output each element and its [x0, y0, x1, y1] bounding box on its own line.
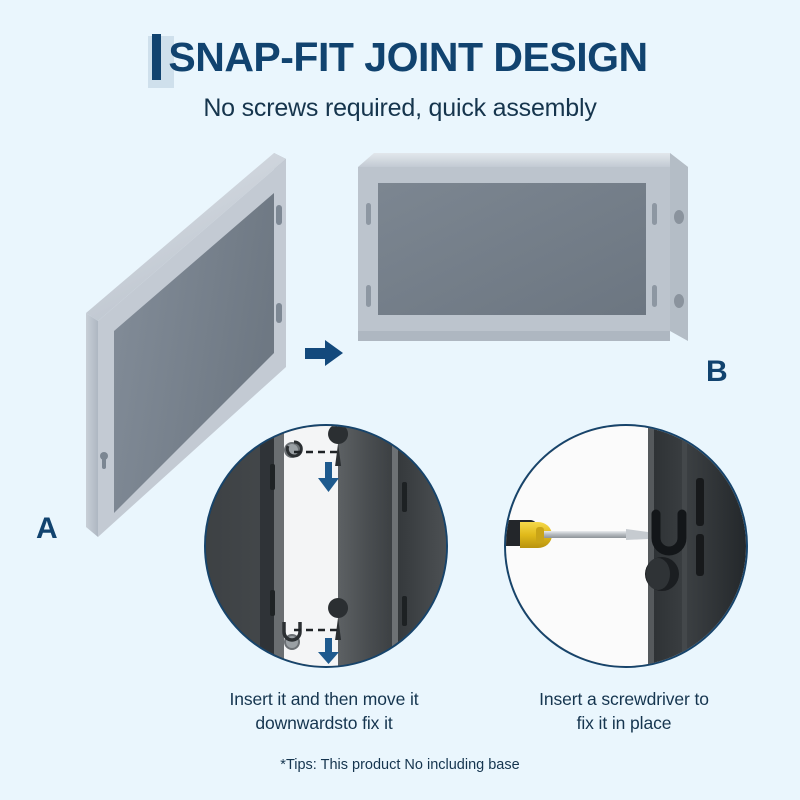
title-row: SNAP-FIT JOINT DESIGN: [152, 34, 647, 80]
panel-b-top-bevel: [358, 153, 688, 167]
assembly-arrow-top-icon: [305, 340, 343, 366]
diagram-label-a: A: [36, 512, 58, 546]
page-subtitle: No screws required, quick assembly: [0, 94, 800, 123]
panel-b-hole-bottom: [674, 294, 684, 308]
inset-left-vent-bottom: [270, 590, 275, 616]
panel-b-graphic: [352, 145, 712, 375]
inset-left-column-edge: [392, 426, 398, 666]
panel-b-right-face: [670, 153, 688, 341]
inset-left-far-vent-top: [402, 482, 407, 512]
panel-b-slot-right-bottom: [652, 285, 657, 307]
inset-right-caption: Insert a screwdriver to fix it in place: [494, 687, 754, 735]
panel-b-slot-left-top: [366, 203, 371, 225]
panel-b-slot-left-bottom: [366, 285, 371, 307]
title-accent-bar: [152, 34, 161, 80]
inset-left-caption-line1: Insert it and then move it: [194, 687, 454, 711]
exploded-assembly-diagram: A B: [0, 140, 800, 415]
panel-a-left-edge: [86, 313, 98, 537]
panel-a-slot-bottom: [276, 303, 282, 323]
panel-b-bottom-lip: [358, 331, 670, 341]
inset-left-column: [338, 426, 396, 666]
inset-left-vent-top: [270, 464, 275, 490]
inset-left-caption-line2: downwardsto fix it: [194, 711, 454, 735]
page-title: SNAP-FIT JOINT DESIGN: [168, 34, 647, 80]
inset-right-caption-line2: fix it in place: [494, 711, 754, 735]
inset-right-caption-line1: Insert a screwdriver to: [494, 687, 754, 711]
inset-insert-and-slide-down: [204, 424, 448, 668]
inset-left-caption: Insert it and then move it downwardsto f…: [194, 687, 454, 735]
panel-b-slot-right-top: [652, 203, 657, 225]
panel-b-inner-face: [378, 183, 646, 315]
screwdriver-shaft: [544, 531, 626, 538]
infographic-page: SNAP-FIT JOINT DESIGN No screws required…: [0, 0, 800, 800]
panel-b-hole-top: [674, 210, 684, 224]
header: SNAP-FIT JOINT DESIGN No screws required…: [0, 34, 800, 123]
inset-left-far-column: [396, 426, 446, 666]
panel-a-slot-top: [276, 205, 282, 225]
inset-screwdriver-lock: [504, 424, 748, 668]
inset-right-panel-edge: [648, 426, 654, 666]
inset-right-vent-bottom: [696, 534, 704, 576]
inset-right-knob-face: [646, 558, 670, 590]
screwdriver-ferrule: [536, 527, 544, 543]
inset-left-far-vent-bottom: [402, 596, 407, 626]
tips-note: *Tips: This product No including base: [0, 757, 800, 773]
diagram-label-b: B: [706, 355, 728, 389]
inset-right-vent-top: [696, 478, 704, 526]
